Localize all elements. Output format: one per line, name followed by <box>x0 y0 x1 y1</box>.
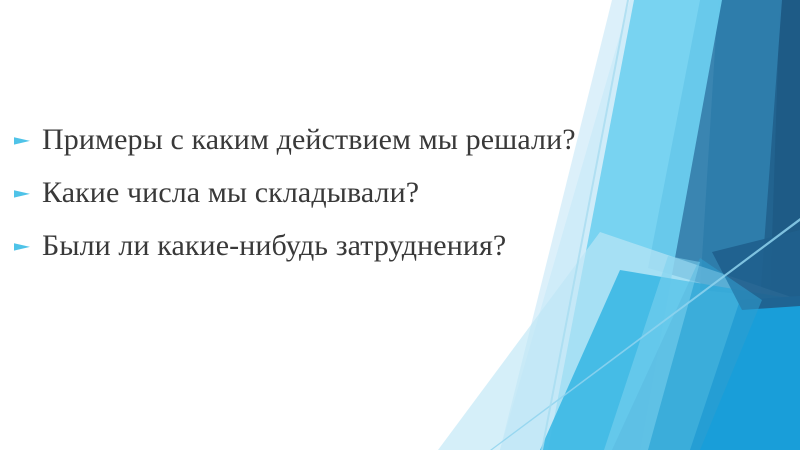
decor-shape-steel-lower-wedge <box>612 258 762 450</box>
bullet-text-3: Были ли какие-нибудь затруднения? <box>42 224 574 268</box>
decor-shape-bright-lower <box>540 270 800 450</box>
decor-shape-deep-edge <box>770 0 800 300</box>
list-item: Были ли какие-нибудь затруднения? <box>14 224 574 277</box>
decor-shape-vivid-right-bottom <box>690 296 800 450</box>
bullet-text-2: Какие числа мы складывали? <box>42 171 574 215</box>
list-item: Примеры с каким действием мы решали? <box>14 118 574 171</box>
bullet-list: Примеры с каким действием мы решали? Как… <box>14 118 574 277</box>
decor-shape-dark-notch <box>712 230 800 310</box>
decor-shape-steel-band <box>648 0 782 300</box>
list-item: Какие числа мы складывали? <box>14 171 574 224</box>
bullet-text-1: Примеры с каким действием мы решали? <box>42 118 576 162</box>
triangle-right-bullet-icon <box>14 171 42 201</box>
decor-shape-dark-right <box>700 0 800 300</box>
triangle-right-bullet-icon <box>14 118 42 148</box>
decor-shape-mid-stripe <box>604 256 700 450</box>
presentation-slide: Примеры с каким действием мы решали? Как… <box>0 0 800 450</box>
triangle-right-bullet-icon <box>14 224 42 254</box>
